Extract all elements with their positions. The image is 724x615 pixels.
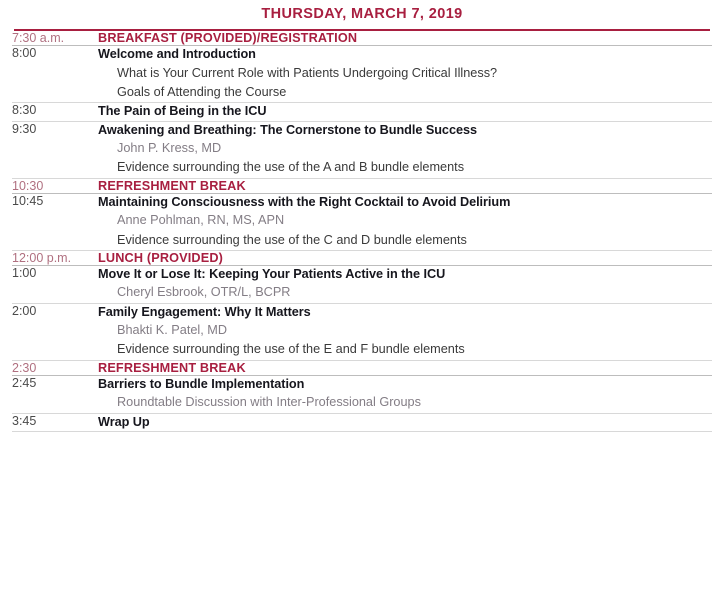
session-note: Evidence surrounding the use of the C an… <box>98 231 712 250</box>
agenda-page: THURSDAY, MARCH 7, 2019 7:30 a.m.BREAKFA… <box>0 0 724 615</box>
session-title: Family Engagement: Why It Matters <box>98 304 712 322</box>
session-details: Barriers to Bundle ImplementationRoundta… <box>98 375 712 413</box>
session-time: 8:30 <box>12 103 98 122</box>
break-title: REFRESHMENT BREAK <box>98 179 712 193</box>
session-row: 10:45Maintaining Consciousness with the … <box>12 193 712 250</box>
session-speaker: Roundtable Discussion with Inter-Profess… <box>98 393 712 412</box>
break-title: REFRESHMENT BREAK <box>98 361 712 375</box>
session-speaker: Anne Pohlman, RN, MS, APN <box>98 211 712 230</box>
session-title: Maintaining Consciousness with the Right… <box>98 194 712 212</box>
session-row: 3:45Wrap Up <box>12 413 712 432</box>
session-row: 2:45Barriers to Bundle ImplementationRou… <box>12 375 712 413</box>
session-details: REFRESHMENT BREAK <box>98 178 712 193</box>
session-row: 8:00Welcome and IntroductionWhat is Your… <box>12 46 712 103</box>
session-time: 1:00 <box>12 265 98 303</box>
schedule-table: 7:30 a.m.BREAKFAST (PROVIDED)/REGISTRATI… <box>12 31 712 432</box>
session-title: Wrap Up <box>98 414 712 432</box>
session-details: The Pain of Being in the ICU <box>98 103 712 122</box>
session-row: 8:30The Pain of Being in the ICU <box>12 103 712 122</box>
session-time: 10:45 <box>12 193 98 250</box>
session-time: 8:00 <box>12 46 98 103</box>
session-speaker: Bhakti K. Patel, MD <box>98 321 712 340</box>
session-note: Evidence surrounding the use of the E an… <box>98 340 712 359</box>
page-title: THURSDAY, MARCH 7, 2019 <box>12 0 712 29</box>
session-title: Awakening and Breathing: The Cornerstone… <box>98 122 712 140</box>
session-note: Goals of Attending the Course <box>98 83 712 102</box>
session-time: 12:00 p.m. <box>12 250 98 265</box>
session-speaker: Cheryl Esbrook, OTR/L, BCPR <box>98 283 712 302</box>
session-time: 2:30 <box>12 360 98 375</box>
session-time: 3:45 <box>12 413 98 432</box>
break-title: BREAKFAST (PROVIDED)/REGISTRATION <box>98 31 712 45</box>
session-details: Move It or Lose It: Keeping Your Patient… <box>98 265 712 303</box>
session-row: 2:00Family Engagement: Why It MattersBha… <box>12 303 712 360</box>
session-note: Evidence surrounding the use of the A an… <box>98 158 712 177</box>
session-details: REFRESHMENT BREAK <box>98 360 712 375</box>
session-title: The Pain of Being in the ICU <box>98 103 712 121</box>
session-details: Maintaining Consciousness with the Right… <box>98 193 712 250</box>
session-details: Awakening and Breathing: The Cornerstone… <box>98 121 712 178</box>
session-title: Move It or Lose It: Keeping Your Patient… <box>98 266 712 284</box>
session-details: LUNCH (PROVIDED) <box>98 250 712 265</box>
session-details: Wrap Up <box>98 413 712 432</box>
schedule-body: 7:30 a.m.BREAKFAST (PROVIDED)/REGISTRATI… <box>12 31 712 432</box>
break-row: 12:00 p.m.LUNCH (PROVIDED) <box>12 250 712 265</box>
break-row: 7:30 a.m.BREAKFAST (PROVIDED)/REGISTRATI… <box>12 31 712 46</box>
break-row: 2:30REFRESHMENT BREAK <box>12 360 712 375</box>
session-time: 7:30 a.m. <box>12 31 98 46</box>
session-note: What is Your Current Role with Patients … <box>98 64 712 83</box>
session-details: BREAKFAST (PROVIDED)/REGISTRATION <box>98 31 712 46</box>
session-speaker: John P. Kress, MD <box>98 139 712 158</box>
session-row: 9:30Awakening and Breathing: The Corners… <box>12 121 712 178</box>
session-time: 10:30 <box>12 178 98 193</box>
session-title: Welcome and Introduction <box>98 46 712 64</box>
session-title: Barriers to Bundle Implementation <box>98 376 712 394</box>
session-row: 1:00Move It or Lose It: Keeping Your Pat… <box>12 265 712 303</box>
break-row: 10:30REFRESHMENT BREAK <box>12 178 712 193</box>
session-time: 2:45 <box>12 375 98 413</box>
session-time: 2:00 <box>12 303 98 360</box>
break-title: LUNCH (PROVIDED) <box>98 251 712 265</box>
session-details: Welcome and IntroductionWhat is Your Cur… <box>98 46 712 103</box>
session-details: Family Engagement: Why It MattersBhakti … <box>98 303 712 360</box>
session-time: 9:30 <box>12 121 98 178</box>
